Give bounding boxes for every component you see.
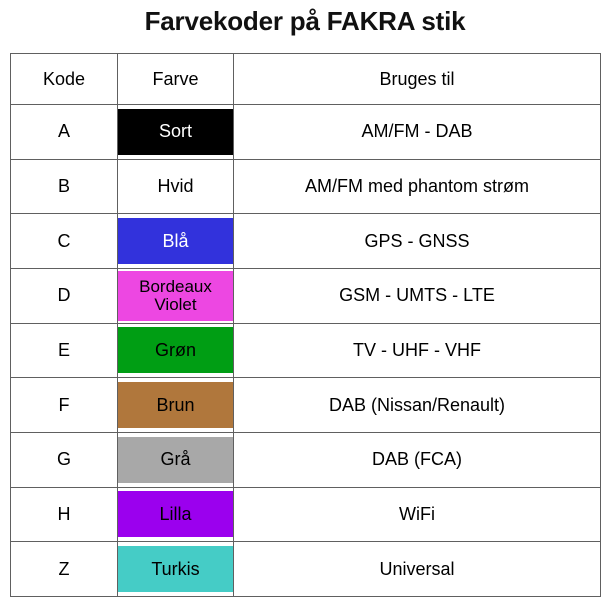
color-name-line: Lilla [159, 505, 191, 524]
color-swatch: Lilla [118, 491, 233, 537]
cell-bruges-til: TV - UHF - VHF [234, 323, 601, 378]
cell-farve: BordeauxViolet [118, 268, 234, 323]
cell-kode: G [11, 432, 118, 487]
cell-kode: F [11, 378, 118, 433]
cell-kode: B [11, 159, 118, 214]
cell-bruges-til: DAB (Nissan/Renault) [234, 378, 601, 433]
cell-bruges-til: AM/FM med phantom strøm [234, 159, 601, 214]
page-root: Farvekoder på FAKRA stik Kode Farve Brug… [0, 0, 610, 610]
table-header-row: Kode Farve Bruges til [11, 54, 601, 105]
cell-kode: A [11, 105, 118, 160]
color-name-line: Grå [160, 450, 190, 469]
table-row: ASortAM/FM - DAB [11, 105, 601, 160]
cell-kode: E [11, 323, 118, 378]
color-swatch: BordeauxViolet [118, 271, 233, 321]
cell-farve: Blå [118, 214, 234, 269]
cell-farve: Hvid [118, 159, 234, 214]
table-row: HLillaWiFi [11, 487, 601, 542]
cell-bruges-til: GSM - UMTS - LTE [234, 268, 601, 323]
color-name-line: Bordeaux [139, 278, 212, 296]
cell-bruges-til: WiFi [234, 487, 601, 542]
column-header-farve: Farve [118, 54, 234, 105]
table-row: GGråDAB (FCA) [11, 432, 601, 487]
cell-farve: Lilla [118, 487, 234, 542]
color-name-line: Hvid [157, 177, 193, 196]
cell-kode: C [11, 214, 118, 269]
color-swatch: Hvid [118, 163, 233, 209]
color-name-line: Sort [159, 122, 192, 141]
table-row: BHvidAM/FM med phantom strøm [11, 159, 601, 214]
color-name-line: Turkis [151, 560, 199, 579]
cell-farve: Grøn [118, 323, 234, 378]
color-swatch: Sort [118, 109, 233, 155]
cell-kode: H [11, 487, 118, 542]
table-row: DBordeauxVioletGSM - UMTS - LTE [11, 268, 601, 323]
cell-farve: Grå [118, 432, 234, 487]
page-title: Farvekoder på FAKRA stik [0, 6, 610, 37]
table-row: CBlåGPS - GNSS [11, 214, 601, 269]
cell-bruges-til: GPS - GNSS [234, 214, 601, 269]
color-swatch: Turkis [118, 546, 233, 592]
fakra-color-code-table: Kode Farve Bruges til ASortAM/FM - DABBH… [10, 53, 600, 597]
color-swatch: Blå [118, 218, 233, 264]
color-swatch: Grøn [118, 327, 233, 373]
color-name-line: Violet [154, 296, 196, 314]
cell-bruges-til: DAB (FCA) [234, 432, 601, 487]
table-row: ZTurkisUniversal [11, 542, 601, 597]
color-name-line: Grøn [155, 341, 196, 360]
cell-farve: Brun [118, 378, 234, 433]
cell-kode: Z [11, 542, 118, 597]
color-swatch: Brun [118, 382, 233, 428]
column-header-bruges-til: Bruges til [234, 54, 601, 105]
table-body: ASortAM/FM - DABBHvidAM/FM med phantom s… [11, 105, 601, 597]
table-row: EGrønTV - UHF - VHF [11, 323, 601, 378]
color-name-line: Brun [156, 396, 194, 415]
cell-farve: Turkis [118, 542, 234, 597]
color-name-line: Blå [162, 232, 188, 251]
color-swatch: Grå [118, 437, 233, 483]
column-header-kode: Kode [11, 54, 118, 105]
cell-farve: Sort [118, 105, 234, 160]
table-row: FBrunDAB (Nissan/Renault) [11, 378, 601, 433]
cell-bruges-til: Universal [234, 542, 601, 597]
cell-kode: D [11, 268, 118, 323]
cell-bruges-til: AM/FM - DAB [234, 105, 601, 160]
